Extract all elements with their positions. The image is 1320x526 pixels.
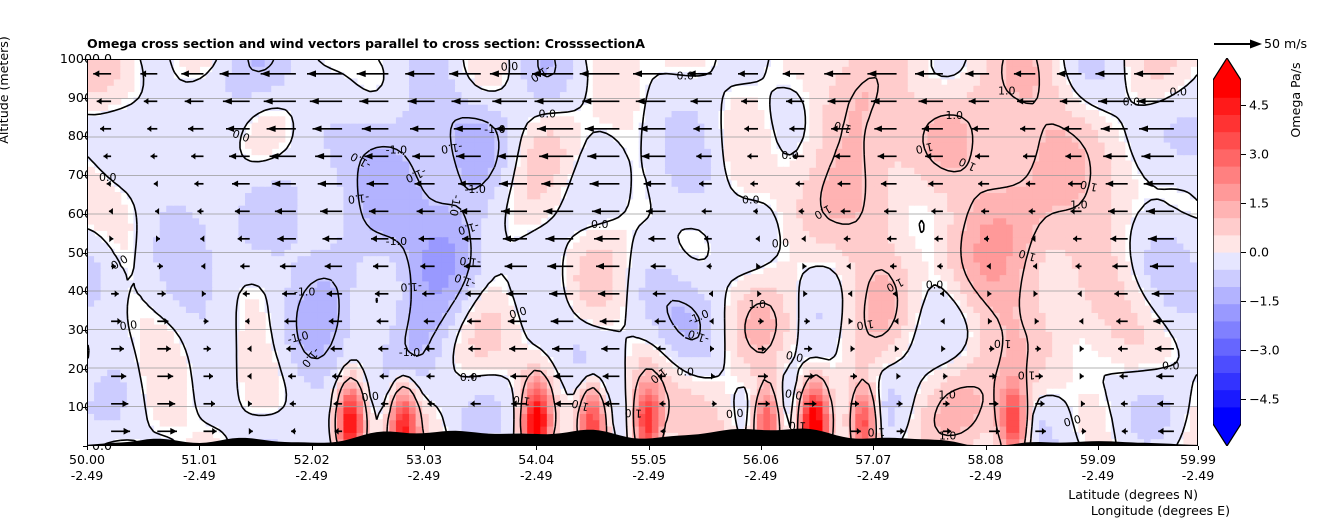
contour-inline-label: 0.0: [767, 235, 794, 250]
contour-inline-label: 0.0: [1158, 359, 1184, 373]
x-axis-label-latitude: Latitude (degrees N): [0, 487, 1198, 502]
colorbar-extend-min: [1213, 424, 1241, 446]
x-tick-label-longitude: -2.49: [857, 468, 890, 483]
x-tick-label-longitude: -2.49: [1082, 468, 1115, 483]
x-tick-label-latitude: 51.01: [181, 452, 217, 467]
contour-inline-label: -1.0: [397, 346, 423, 360]
plot-canvas: -1.0-1.0-1.0-1.0-1.0-1.0-1.0-1.0-1.0-1.0…: [88, 60, 1197, 445]
x-tick-mark: [199, 446, 200, 450]
wind-vector-head: [1080, 373, 1084, 380]
quiver-key-arrow-icon: [1212, 34, 1264, 54]
contour-inline-label: 1.0: [1014, 369, 1040, 383]
wind-vector-head: [1080, 345, 1084, 352]
x-tick-label-latitude: 50.00: [69, 452, 105, 467]
x-tick-label-longitude: -2.49: [183, 468, 216, 483]
x-tick-label-longitude: -2.49: [632, 468, 665, 483]
contour-inline-label: 0.0: [738, 193, 764, 207]
colorbar-band: [1213, 132, 1241, 150]
contour-inline-label: 1.0: [1066, 198, 1092, 212]
x-tick-mark: [986, 446, 987, 450]
colorbar-tick-label: 4.5: [1249, 97, 1269, 112]
cross-section-plot[interactable]: -1.0-1.0-1.0-1.0-1.0-1.0-1.0-1.0-1.0-1.0…: [87, 59, 1198, 446]
contour-inline-label: -1.0: [345, 191, 372, 207]
colorbar-tick-mark: [1241, 399, 1246, 400]
colorbar-tick-mark: [1241, 203, 1246, 204]
x-axis-label-longitude: Longitude (degrees E): [0, 503, 1230, 518]
x-tick-mark: [761, 446, 762, 450]
colorbar-band: [1213, 200, 1241, 218]
x-tick-mark: [1098, 446, 1099, 450]
colorbar-band: [1213, 269, 1241, 287]
x-tick-label-latitude: 53.03: [406, 452, 442, 467]
colorbar-extend-max: [1213, 58, 1241, 80]
contour-inline-label: -1.0: [292, 285, 318, 299]
contour-inline-label: 0.0: [496, 60, 523, 73]
x-tick-mark: [87, 446, 88, 450]
colorbar-tick-mark: [1241, 350, 1246, 351]
x-tick-label-latitude: 52.02: [294, 452, 330, 467]
contour-inline-label: 1.0: [620, 406, 646, 420]
contour-inline-label: -1.0: [457, 254, 484, 270]
x-tick-mark: [1198, 446, 1199, 450]
x-tick-label-latitude: 56.06: [743, 452, 779, 467]
colorbar-band: [1213, 407, 1241, 425]
title-line-1: Omega cross section and wind vectors par…: [87, 36, 887, 51]
x-tick-label-latitude: 59.99: [1180, 452, 1216, 467]
colorbar-band: [1213, 321, 1241, 339]
wind-vector-head: [243, 290, 247, 297]
wind-vector-head: [585, 126, 594, 133]
colorbar-band: [1213, 355, 1241, 373]
y-axis-label: Altitude (meters): [0, 10, 11, 170]
quiver-key: 50 m/s: [1212, 34, 1320, 54]
colorbar-tick-mark: [1241, 252, 1246, 253]
colorbar-tick-label: −3.0: [1249, 343, 1280, 358]
colorbar-tick-label: 0.0: [1249, 245, 1269, 260]
contour-inline-label: 0.0: [672, 365, 698, 379]
x-tick-mark: [649, 446, 650, 450]
contour-inline-label: 0.0: [587, 217, 613, 231]
contour-inline-label: -1.0: [398, 280, 425, 295]
colorbar-band: [1213, 304, 1241, 322]
contour-inline-label: 1.0: [934, 388, 960, 402]
colorbar-band: [1213, 97, 1241, 115]
x-tick-label-latitude: 58.08: [968, 452, 1004, 467]
colorbar-tick-mark: [1241, 154, 1246, 155]
colorbar-tick-label: 1.5: [1249, 195, 1269, 210]
colorbar-band: [1213, 218, 1241, 236]
contour-inline-label: -1.0: [383, 143, 409, 157]
colorbar-band: [1213, 183, 1241, 201]
colorbar-tick-mark: [1241, 301, 1246, 302]
contour-inline-label: 1.0: [941, 109, 967, 123]
x-tick-label-longitude: -2.49: [1182, 468, 1215, 483]
colorbar-band: [1213, 235, 1241, 253]
contour-inline-label: 1.0: [744, 298, 770, 312]
wind-vector-head: [248, 400, 252, 407]
x-tick-mark: [424, 446, 425, 450]
colorbar-band: [1213, 80, 1241, 98]
wind-vector-head: [170, 428, 177, 435]
colorbar-band: [1213, 338, 1241, 356]
contour-inline-label: 0.0: [534, 107, 560, 121]
x-tick-label-longitude: -2.49: [969, 468, 1002, 483]
x-tick-mark: [536, 446, 537, 450]
x-tick-mark: [312, 446, 313, 450]
contour-inline-label: 0.0: [922, 278, 948, 292]
figure-canvas: Omega cross section and wind vectors par…: [0, 0, 1320, 526]
x-tick-label-latitude: 55.05: [631, 452, 667, 467]
contour-inline-label: 1.0: [863, 425, 889, 439]
x-tick-label-latitude: 59.09: [1080, 452, 1116, 467]
colorbar: [1213, 58, 1241, 446]
colorbar-label: Omega Pa/s: [1288, 20, 1303, 180]
colorbar-tick-label: −1.5: [1249, 294, 1280, 309]
colorbar-band: [1213, 286, 1241, 304]
colorbar-band: [1213, 252, 1241, 270]
colorbar-band: [1213, 149, 1241, 167]
contour-inline-label: -1.0: [383, 234, 409, 248]
colorbar-tick-label: −4.5: [1249, 392, 1280, 407]
wind-vector-head: [181, 70, 189, 77]
x-tick-label-latitude: 57.07: [855, 452, 891, 467]
x-tick-label-longitude: -2.49: [408, 468, 441, 483]
x-tick-label-longitude: -2.49: [295, 468, 328, 483]
colorbar-tick-label: 3.0: [1249, 146, 1269, 161]
x-tick-label-longitude: -2.49: [71, 468, 104, 483]
colorbar-band: [1213, 166, 1241, 184]
x-tick-label-longitude: -2.49: [520, 468, 553, 483]
colorbar-band: [1213, 114, 1241, 132]
contour-inline-label: 0.0: [95, 170, 121, 184]
colorbar-band: [1213, 372, 1241, 390]
x-tick-mark: [873, 446, 874, 450]
contour-inline-label: 1.0: [994, 84, 1020, 98]
x-tick-label-latitude: 54.04: [518, 452, 554, 467]
colorbar-tick-mark: [1241, 105, 1246, 106]
x-tick-label-longitude: -2.49: [745, 468, 778, 483]
colorbar-band: [1213, 390, 1241, 408]
colorbar-gradient: [1213, 58, 1241, 446]
contour-inline-label: 0.0: [777, 148, 803, 162]
contour-inline-label: 0.0: [1165, 85, 1191, 99]
wind-vector-head: [357, 70, 366, 77]
